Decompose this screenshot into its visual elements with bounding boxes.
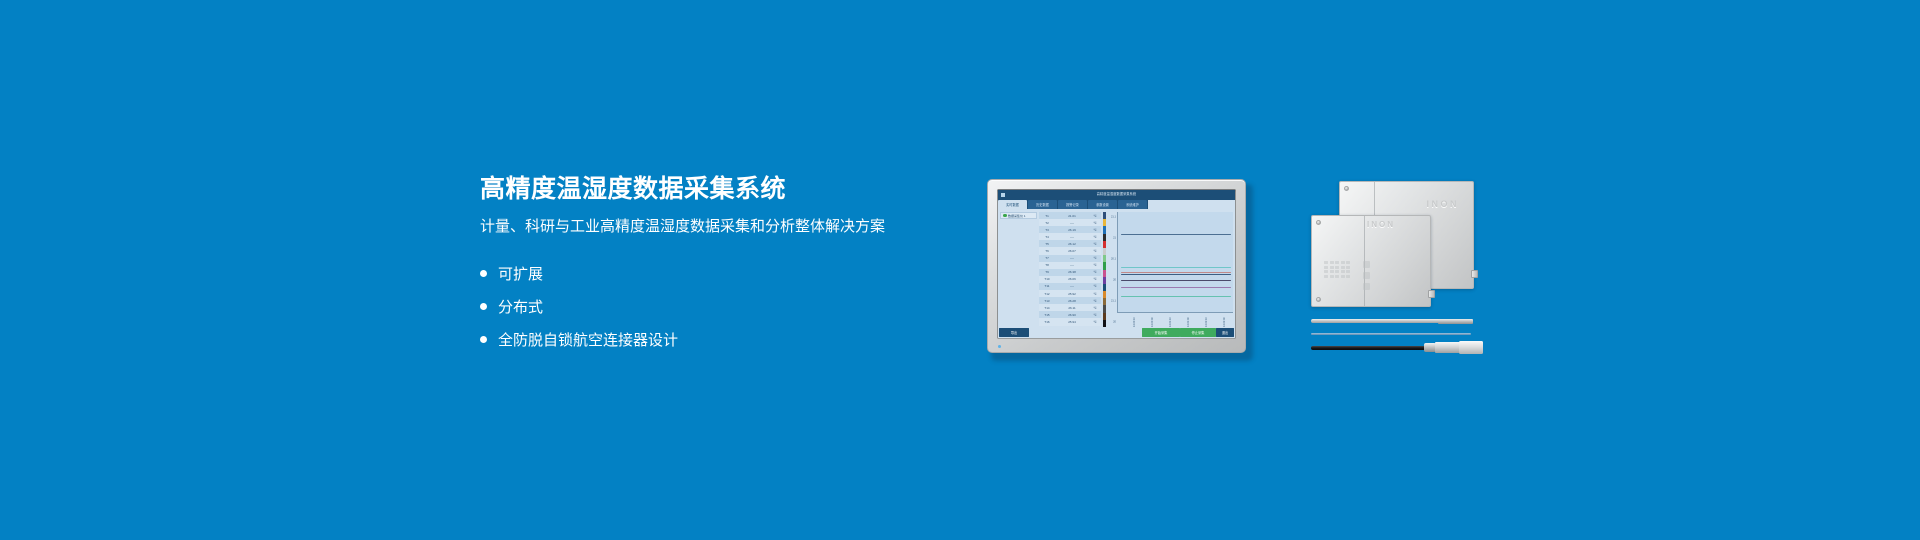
y-axis-tick: 21	[1113, 236, 1116, 239]
feature-item: 可扩展	[480, 257, 920, 290]
monitor-product-image: 高精度温湿度数据采集系统 实时数据 历史数据 报警记录 参数设置 系统维护 数据…	[987, 179, 1253, 361]
table-row[interactable]: T1426.11℃	[1039, 304, 1101, 311]
legend-color-swatch	[1103, 284, 1106, 291]
table-row[interactable]: T7----℃	[1039, 255, 1101, 262]
legend-color-swatch	[1103, 270, 1106, 277]
page-subtitle: 计量、科研与工业高精度温湿度数据采集和分析整体解决方案	[480, 217, 920, 237]
channel-name: T11	[1039, 284, 1055, 288]
table-row[interactable]: T1326.28℃	[1039, 297, 1101, 304]
channel-name: T5	[1039, 242, 1055, 246]
feature-item: 全防脱自锁航空连接器设计	[480, 323, 920, 356]
channel-value: 21.01	[1055, 214, 1089, 218]
brand-label-front: INON	[1367, 220, 1395, 229]
app-tab-bar: 实时数据 历史数据 报警记录 参数设置 系统维护	[998, 199, 1235, 209]
start-acquisition-button[interactable]: 开始采集	[1142, 328, 1180, 337]
screw-icon	[1316, 220, 1321, 225]
terminal-grid-icon	[1324, 261, 1350, 278]
table-row[interactable]: T4----℃	[1039, 233, 1101, 240]
feature-list: 可扩展 分布式 全防脱自锁航空连接器设计	[480, 257, 920, 356]
metal-probe	[1311, 319, 1456, 323]
channel-value: 26.28	[1055, 299, 1089, 303]
channel-unit: ℃	[1089, 277, 1101, 281]
chart-series-line	[1121, 287, 1230, 288]
trend-chart: 21.12120.12021.120 14:20:1014:20:4014:21…	[1108, 212, 1233, 327]
channel-unit: ℃	[1089, 249, 1101, 253]
channel-name: T12	[1039, 292, 1055, 296]
legend-color-swatch	[1103, 305, 1106, 312]
y-axis-tick: 21.1	[1111, 215, 1116, 218]
table-row[interactable]: T1225.92℃	[1039, 290, 1101, 297]
x-axis-tick: 14:20:10	[1133, 313, 1136, 327]
channel-value: 25.92	[1055, 292, 1089, 296]
channel-unit: ℃	[1089, 256, 1101, 260]
channel-value: ----	[1055, 221, 1089, 225]
monitor-bezel: 高精度温湿度数据采集系统 实时数据 历史数据 报警记录 参数设置 系统维护 数据…	[987, 179, 1246, 353]
channel-unit: ℃	[1089, 242, 1101, 246]
connector-icon	[1471, 270, 1478, 278]
channel-unit: ℃	[1089, 299, 1101, 303]
chart-series-line	[1121, 274, 1230, 275]
channel-name: T7	[1039, 256, 1055, 260]
chart-series-line	[1121, 234, 1230, 235]
table-row[interactable]: T526.12℃	[1039, 240, 1101, 247]
channel-unit: ℃	[1089, 221, 1101, 225]
legend-color-swatch	[1103, 298, 1106, 305]
black-cable-probe	[1311, 346, 1429, 350]
screw-icon	[1344, 186, 1349, 191]
legend-color-swatch	[1103, 320, 1106, 327]
legend-color-swatch	[1103, 313, 1106, 320]
bullet-icon	[480, 303, 487, 310]
channel-value: 26.12	[1055, 242, 1089, 246]
table-row[interactable]: T2----℃	[1039, 219, 1101, 226]
probe-connector-housing	[1459, 341, 1483, 354]
monitor-screen: 高精度温湿度数据采集系统 实时数据 历史数据 报警记录 参数设置 系统维护 数据…	[997, 189, 1236, 339]
probe-connector-body	[1435, 342, 1461, 353]
channel-unit: ℃	[1089, 228, 1101, 232]
legend-color-swatch	[1103, 262, 1106, 269]
tab-history-data[interactable]: 历史数据	[1028, 200, 1057, 209]
table-row[interactable]: T121.01℃	[1039, 212, 1101, 219]
channel-name: T6	[1039, 249, 1055, 253]
app-footer-toolbar: 导出 开始采集 停止采集 退出	[998, 327, 1235, 338]
table-row[interactable]: T926.38℃	[1039, 269, 1101, 276]
table-row[interactable]: T326.19℃	[1039, 226, 1101, 233]
enclosure-product-image: INON INON	[1311, 175, 1476, 310]
x-axis-tick: 14:22:40	[1223, 313, 1226, 327]
chart-series-line	[1121, 272, 1230, 273]
channel-name: T15	[1039, 313, 1055, 317]
device-tree-label: 数据采集仪 1	[1008, 214, 1026, 218]
screw-icon	[1316, 297, 1321, 302]
app-body: 数据采集仪 1 T121.01℃T2----℃T326.19℃T4----℃T5…	[998, 209, 1235, 327]
channel-unit: ℃	[1089, 214, 1101, 218]
channel-unit: ℃	[1089, 284, 1101, 288]
channel-unit: ℃	[1089, 235, 1101, 239]
port-panel	[1324, 261, 1370, 297]
device-tree-node[interactable]: 数据采集仪 1	[1000, 212, 1037, 219]
chart-plot-area	[1117, 212, 1233, 313]
channel-value: 26.19	[1055, 228, 1089, 232]
channel-unit: ℃	[1089, 263, 1101, 267]
legend-color-swatch	[1103, 241, 1106, 248]
channel-value: ----	[1055, 256, 1089, 260]
y-axis-tick: 21.1	[1111, 300, 1116, 303]
tab-maintenance[interactable]: 系统维护	[1118, 200, 1147, 209]
chart-series-line	[1121, 280, 1230, 281]
channel-name: T4	[1039, 235, 1055, 239]
table-row[interactable]: T626.07℃	[1039, 247, 1101, 254]
table-row[interactable]: T1026.06℃	[1039, 276, 1101, 283]
channel-name: T8	[1039, 263, 1055, 267]
channel-value: 26.11	[1055, 306, 1089, 310]
channel-value: ----	[1055, 235, 1089, 239]
channel-value: 26.07	[1055, 249, 1089, 253]
tab-bar-filler	[1148, 200, 1235, 209]
x-axis-tick: 14:21:40	[1187, 313, 1190, 327]
feature-label: 可扩展	[498, 263, 543, 284]
bullet-icon	[480, 336, 487, 343]
channel-value: ----	[1055, 263, 1089, 267]
hero-text-block: 高精度温湿度数据采集系统 计量、科研与工业高精度温湿度数据采集和分析整体解决方案…	[480, 175, 920, 356]
feature-label: 全防脱自锁航空连接器设计	[498, 329, 678, 350]
channel-value: 26.38	[1055, 270, 1089, 274]
legend-color-swatch	[1103, 226, 1106, 233]
channel-name: T14	[1039, 306, 1055, 310]
channel-unit: ℃	[1089, 306, 1101, 310]
y-axis-tick: 20	[1113, 279, 1116, 282]
channel-value: ----	[1055, 284, 1089, 288]
chart-series-line	[1121, 296, 1230, 297]
channel-value: 26.06	[1055, 277, 1089, 281]
feature-item: 分布式	[480, 290, 920, 323]
channel-value: 26.90	[1055, 313, 1089, 317]
tab-realtime-data[interactable]: 实时数据	[998, 200, 1027, 209]
legend-color-swatch	[1103, 212, 1106, 219]
legend-color-swatch	[1103, 219, 1106, 226]
channel-value: 25.94	[1055, 320, 1089, 324]
exit-button[interactable]: 退出	[1216, 328, 1234, 337]
connector-icon	[1428, 290, 1435, 298]
daq-application: 高精度温湿度数据采集系统 实时数据 历史数据 报警记录 参数设置 系统维护 数据…	[998, 190, 1235, 338]
channel-table: T121.01℃T2----℃T326.19℃T4----℃T526.12℃T6…	[1039, 212, 1101, 327]
channel-unit: ℃	[1089, 313, 1101, 317]
app-titlebar: 高精度温湿度数据采集系统	[998, 190, 1235, 199]
channel-name: T16	[1039, 320, 1055, 324]
x-axis-tick: 14:20:40	[1151, 313, 1154, 327]
table-row[interactable]: T8----℃	[1039, 262, 1101, 269]
channel-unit: ℃	[1089, 320, 1101, 324]
legend-color-swatch	[1103, 234, 1106, 241]
legend-color-swatch	[1103, 248, 1106, 255]
device-tree-sidebar: 数据采集仪 1	[1000, 212, 1037, 327]
aviation-connector-icons	[1363, 261, 1370, 290]
sensor-probe-images	[1311, 313, 1476, 363]
brand-label-back: INON	[1427, 199, 1460, 209]
stop-acquisition-button[interactable]: 停止采集	[1180, 328, 1216, 337]
chart-x-axis: 14:20:1014:20:4014:21:1014:21:4014:22:10…	[1117, 313, 1233, 327]
channel-unit: ℃	[1089, 270, 1101, 274]
channel-name: T10	[1039, 277, 1055, 281]
tab-settings[interactable]: 参数设置	[1088, 200, 1117, 209]
channel-name: T3	[1039, 228, 1055, 232]
table-row[interactable]: T11----℃	[1039, 283, 1101, 290]
table-row[interactable]: T1526.90℃	[1039, 311, 1101, 318]
y-axis-tick: 20	[1113, 321, 1116, 324]
tab-alarm-log[interactable]: 报警记录	[1058, 200, 1087, 209]
thin-cable-probe	[1311, 333, 1471, 335]
app-window-title: 高精度温湿度数据采集系统	[998, 190, 1235, 199]
chart-y-axis: 21.12120.12021.120	[1108, 212, 1117, 327]
legend-color-swatch	[1103, 277, 1106, 284]
status-online-icon	[1003, 214, 1007, 218]
series-color-legend	[1103, 212, 1106, 327]
chart-series-line	[1121, 267, 1230, 268]
channel-name: T13	[1039, 299, 1055, 303]
bullet-icon	[480, 270, 487, 277]
legend-color-swatch	[1103, 255, 1106, 262]
channel-name: T9	[1039, 270, 1055, 274]
channel-name: T2	[1039, 221, 1055, 225]
y-axis-tick: 20.1	[1111, 257, 1116, 260]
channel-name: T1	[1039, 214, 1055, 218]
x-axis-tick: 14:21:10	[1169, 313, 1172, 327]
channel-unit: ℃	[1089, 292, 1101, 296]
legend-color-swatch	[1103, 291, 1106, 298]
table-row[interactable]: T1625.94℃	[1039, 318, 1101, 325]
page-title: 高精度温湿度数据采集系统	[480, 175, 920, 204]
probe-tip	[1438, 319, 1473, 324]
x-axis-tick: 14:22:10	[1205, 313, 1208, 327]
feature-label: 分布式	[498, 296, 543, 317]
power-led-icon	[998, 345, 1001, 348]
export-button[interactable]: 导出	[999, 328, 1029, 337]
